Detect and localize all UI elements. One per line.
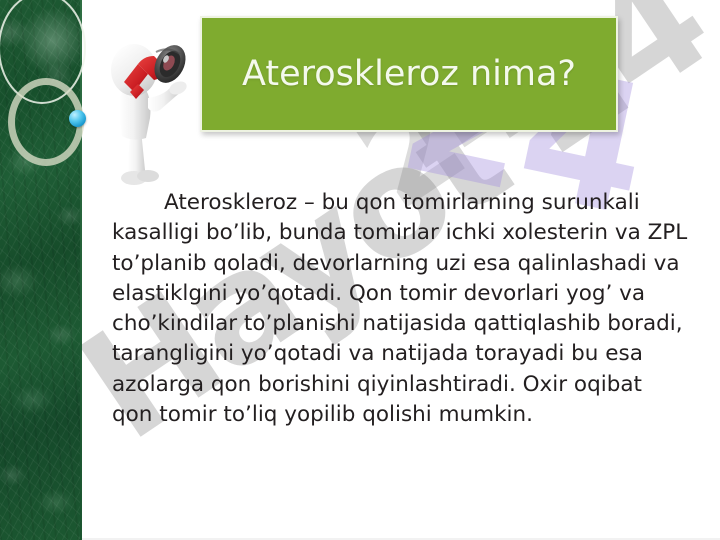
band-edge-line <box>80 0 82 540</box>
slide-body-block: Ateroskleroz – bu qon tomirlarning surun… <box>112 188 688 430</box>
slide-title-box: Ateroskleroz nima? <box>200 16 618 132</box>
slide-title: Ateroskleroz nima? <box>242 55 576 94</box>
blue-sphere-icon <box>69 110 86 127</box>
presentation-slide: Hayot 24 24 24 <box>0 0 720 540</box>
megaphone-character-illustration <box>86 26 198 188</box>
slide-body-text: Ateroskleroz – bu qon tomirlarning surun… <box>112 188 688 430</box>
